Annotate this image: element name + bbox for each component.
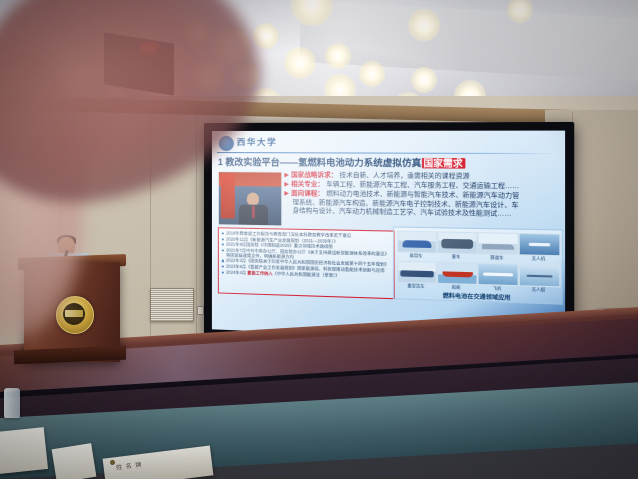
vehicle-cell: 飞机 (478, 263, 517, 293)
car-thumbnail (397, 231, 437, 254)
policy-bullet-icon (222, 232, 224, 234)
university-name: 西华大学 (237, 136, 277, 148)
vehicle-label: 重型货车 (397, 283, 435, 290)
left-wall-air-vent (150, 288, 194, 322)
emblem-glyph-icon (65, 310, 83, 317)
national-demand-badge: 国家需求 (421, 158, 465, 169)
bullet-marker-icon: ▶ (284, 181, 289, 189)
plane-thumbnail (478, 263, 519, 286)
truck-thumbnail (397, 261, 437, 284)
policy-bullet-icon (222, 238, 224, 240)
bullet-key: 国家战略诉求： (291, 172, 337, 181)
vehicle-application-grid: 乘用车客车赛道车无人机重型货车船舶飞机无人艇 燃料电池在交通领域应用 (393, 226, 563, 304)
ship-thumbnail (437, 262, 478, 285)
vehicle-cell: 重型货车 (397, 261, 435, 290)
vehicle-label: 赛道车 (478, 254, 517, 261)
ceiling-downlight (359, 61, 385, 87)
policy-bullet-icon (222, 266, 224, 268)
drone-thumbnail (519, 233, 561, 256)
vehicle-cell: 乘用车 (397, 231, 435, 260)
bullet-key: 面向课程： (291, 190, 324, 199)
bus-thumbnail (437, 231, 478, 254)
bullet-marker-icon: ▶ (284, 172, 289, 180)
slide-header-rule (217, 152, 560, 155)
photo-scene: 西华大学 1 教改实验平台——氢燃料电池动力系统虚拟仿真国家需求 ▶国家战略诉求… (0, 0, 638, 479)
bullet-key: 相关专业： (291, 181, 324, 189)
presentation-slide: 西华大学 1 教改实验平台——氢燃料电池动力系统虚拟仿真国家需求 ▶国家战略诉求… (212, 131, 565, 344)
uav-thumbnail (519, 264, 561, 288)
national-flag (221, 174, 235, 218)
vehicle-label: 无人机 (519, 255, 559, 262)
ceiling-downlight (253, 23, 279, 49)
vehicle-cell: 无人机 (519, 233, 559, 263)
policy-item-highlight: 氢能工作纳入 (247, 270, 272, 276)
vehicle-label: 船舶 (437, 284, 475, 291)
wall-outlet[interactable] (197, 306, 204, 315)
bullet-marker-icon: ▶ (284, 190, 289, 198)
bullet-value: 技术自新、人才培养，亟需相关的课程资源 (339, 172, 469, 181)
photo-person-tie (252, 206, 255, 218)
slide-bullet-list: ▶国家战略诉求：技术自新、人才培养，亟需相关的课程资源▶相关专业：车辆工程、新能… (284, 172, 560, 220)
policy-bullet-icon (222, 244, 224, 246)
ceiling-downlight (408, 9, 439, 40)
policy-bullet-icon (222, 249, 224, 251)
vehicle-label: 乘用车 (397, 252, 435, 259)
vehicle-label: 无人艇 (519, 286, 559, 294)
vehicle-grid-cells: 乘用车客车赛道车无人机重型货车船舶飞机无人艇 (394, 227, 562, 293)
race-thumbnail (478, 232, 519, 255)
ceiling-downlight (284, 47, 315, 78)
vehicle-label: 客车 (437, 253, 475, 260)
water-bottle[interactable] (4, 388, 20, 418)
policy-document-box: 2019年教育部工作报告与教育部门深化本科教育教学改革若干意见2020年11月《… (218, 227, 395, 299)
policy-bullet-icon (222, 271, 224, 273)
ceiling-downlight (291, 0, 333, 26)
speaker-photo (218, 171, 282, 226)
policy-bullet-icon (222, 260, 224, 262)
slide-title: 1 教改实验平台——氢燃料电池动力系统虚拟仿真 (218, 157, 421, 168)
name-card[interactable] (52, 443, 97, 479)
vehicle-cell: 客车 (437, 231, 475, 260)
vehicle-cell: 船舶 (437, 262, 475, 291)
slide-title-row: 1 教改实验平台——氢燃料电池动力系统虚拟仿真国家需求 (218, 155, 465, 170)
name-card[interactable] (0, 427, 48, 475)
ceiling-downlight (507, 0, 533, 23)
ceiling-downlight (411, 67, 437, 93)
vehicle-cell: 无人艇 (519, 264, 559, 294)
vehicle-label: 飞机 (478, 285, 517, 293)
ceiling-downlight (325, 43, 351, 69)
vehicle-cell: 赛道车 (478, 232, 517, 261)
